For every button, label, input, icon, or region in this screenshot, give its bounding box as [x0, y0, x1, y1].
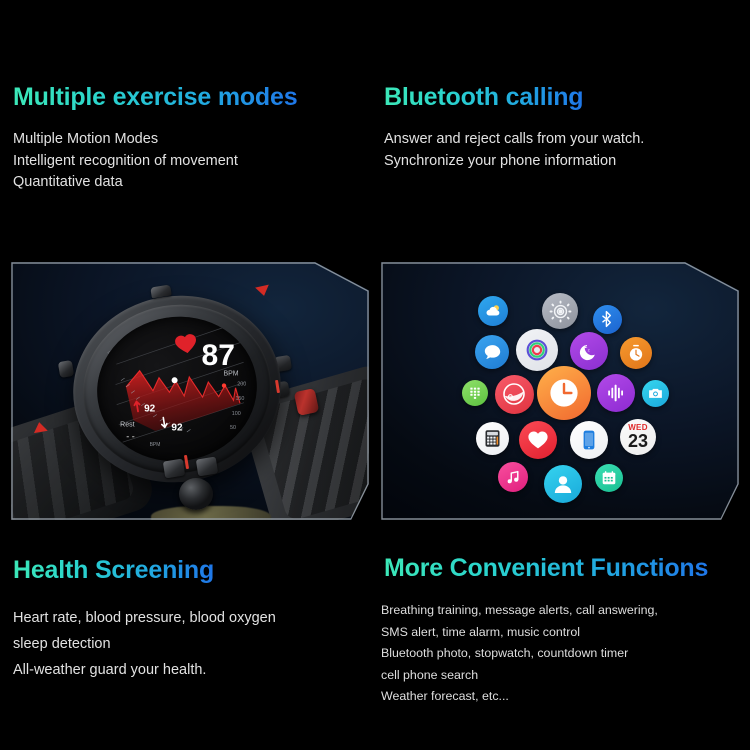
- section-heading-bluetooth-calling: Bluetooth calling: [384, 83, 583, 112]
- section-body-bluetooth-calling: Answer and reject calls from your watch.…: [384, 129, 644, 172]
- panel-frame-border: [11, 262, 369, 520]
- heading-text: Bluetooth calling: [384, 83, 583, 112]
- heading-text: Health Screening: [13, 556, 214, 585]
- panel-frame-border: [381, 262, 739, 520]
- watch-photo-panel: EXTREME: [11, 262, 369, 520]
- body-line: Breathing training, message alerts, call…: [381, 600, 658, 622]
- section-heading-health-screening: Health Screening: [13, 556, 214, 585]
- section-body-exercise-modes: Multiple Motion Modes Intelligent recogn…: [13, 129, 238, 194]
- section-body-more-functions: Breathing training, message alerts, call…: [381, 600, 658, 708]
- body-line: Answer and reject calls from your watch.: [384, 129, 644, 151]
- body-line: Heart rate, blood pressure, blood oxygen: [13, 605, 276, 631]
- body-line: cell phone search: [381, 665, 658, 687]
- body-line: Intelligent recognition of movement: [13, 151, 238, 173]
- body-line: Bluetooth photo, stopwatch, countdown ti…: [381, 643, 658, 665]
- app-grid-panel: zzWED23: [381, 262, 739, 520]
- product-feature-page: Multiple exercise modes Multiple Motion …: [0, 0, 750, 750]
- heading-text: Multiple exercise modes: [13, 83, 297, 112]
- body-line: Quantitative data: [13, 172, 238, 194]
- section-heading-more-functions: More Convenient Functions: [384, 554, 708, 583]
- body-line: Multiple Motion Modes: [13, 129, 238, 151]
- body-line: Weather forecast, etc...: [381, 686, 658, 708]
- body-line: All-weather guard your health.: [13, 657, 276, 683]
- section-heading-exercise-modes: Multiple exercise modes: [13, 83, 297, 112]
- body-line: sleep detection: [13, 631, 276, 657]
- body-line: Synchronize your phone information: [384, 151, 644, 173]
- body-line: SMS alert, time alarm, music control: [381, 622, 658, 644]
- section-body-health-screening: Heart rate, blood pressure, blood oxygen…: [13, 605, 276, 683]
- heading-text: More Convenient Functions: [384, 554, 708, 583]
